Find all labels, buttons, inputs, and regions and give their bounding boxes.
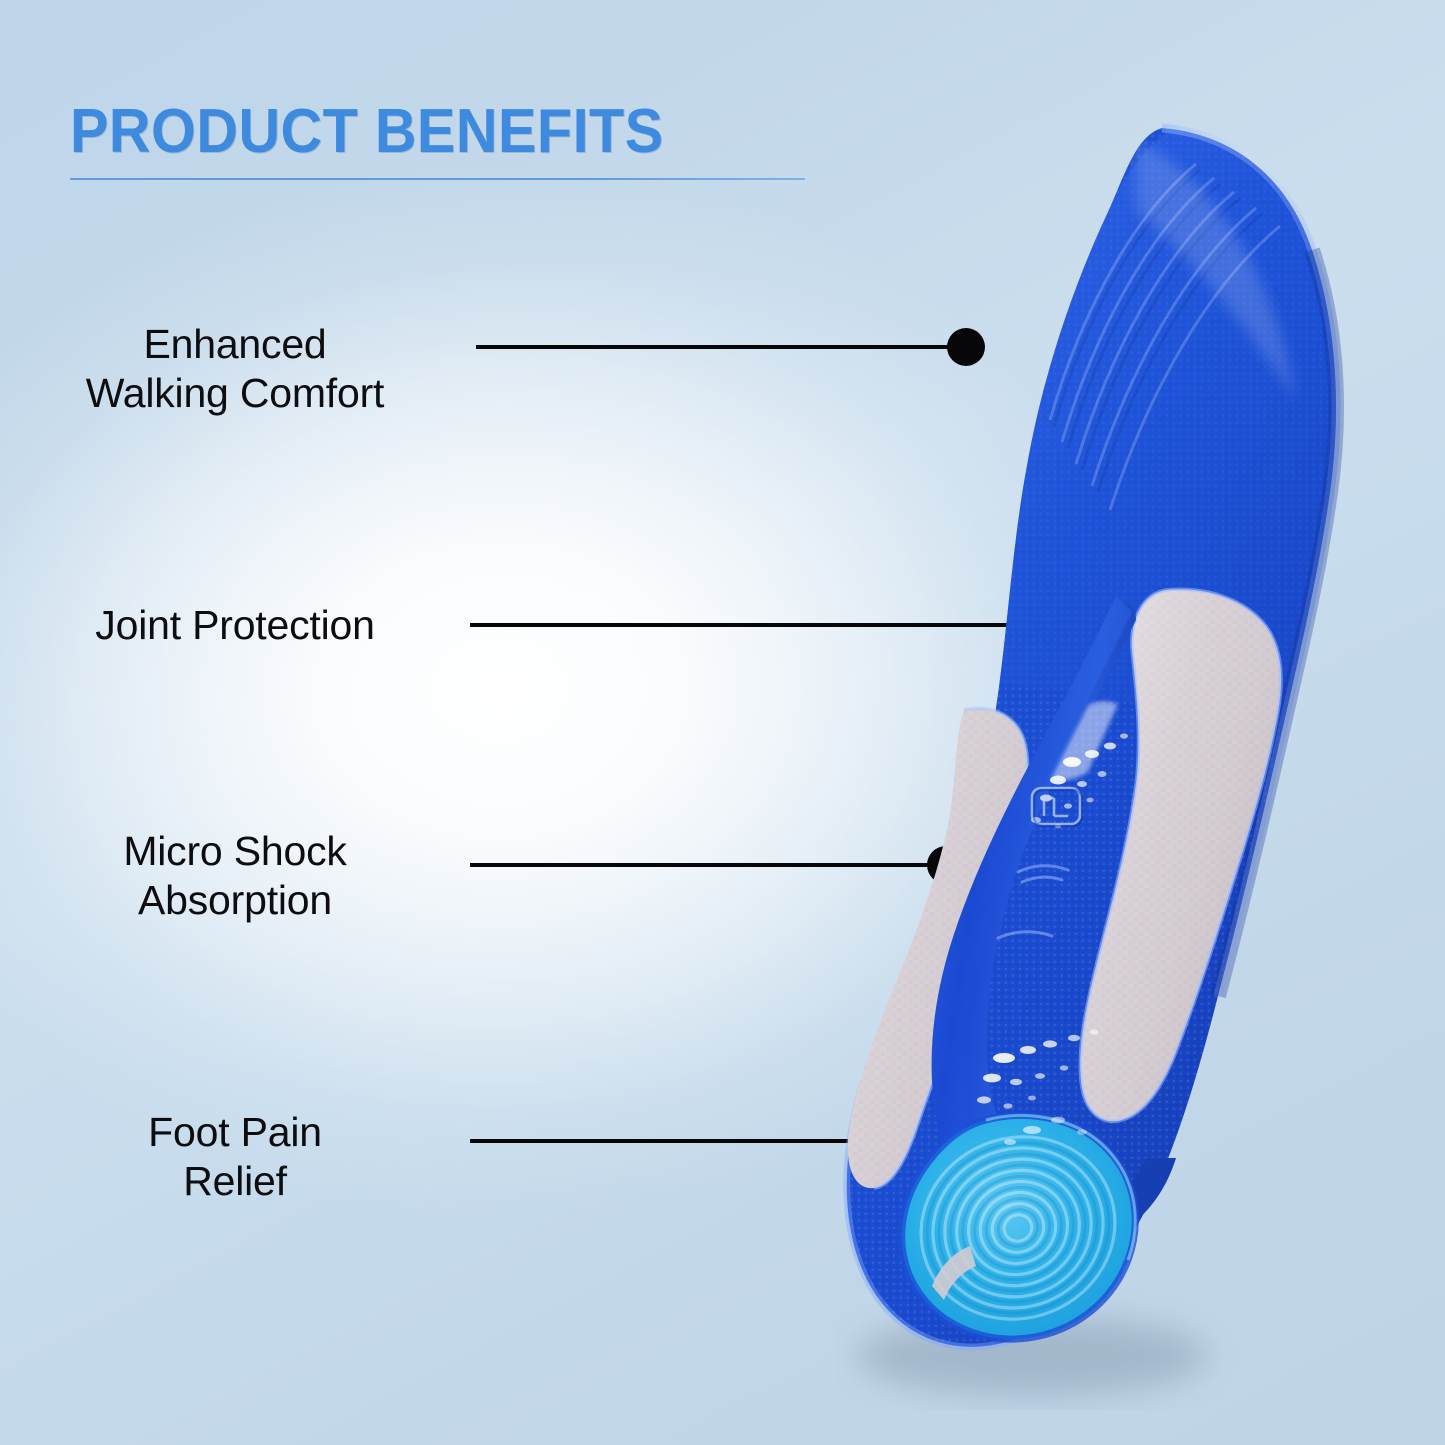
callout-label-foot-pain-relief: Foot Pain Relief	[40, 1108, 430, 1206]
product-image-gel-insole	[836, 120, 1396, 1410]
page-title: PRODUCT BENEFITS	[70, 98, 777, 166]
callout-label-joint-protection: Joint Protection	[40, 601, 430, 650]
title-underline	[70, 178, 805, 180]
page-title-block: PRODUCT BENEFITS	[70, 98, 830, 180]
insole-illustration	[836, 120, 1396, 1410]
infographic-canvas: PRODUCT BENEFITS Enhanced Walking Comfor…	[0, 0, 1445, 1445]
callout-label-enhanced-walking-comfort: Enhanced Walking Comfort	[40, 320, 430, 418]
callout-label-micro-shock-absorption: Micro Shock Absorption	[40, 827, 430, 925]
